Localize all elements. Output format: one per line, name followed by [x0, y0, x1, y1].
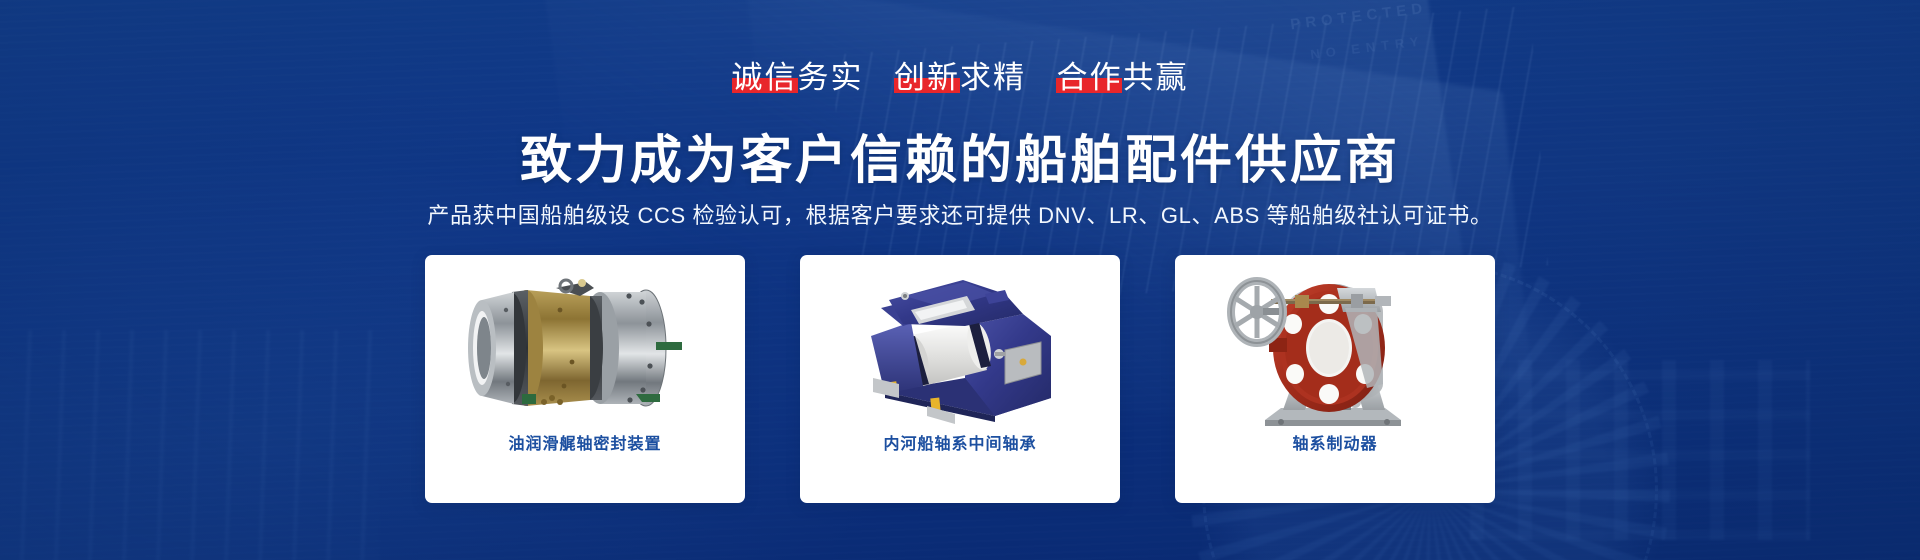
- product-image-bearing: [800, 255, 1120, 437]
- tagline-group-2: 创新求精: [894, 52, 1026, 97]
- tagline-text-2: 创新求精: [894, 60, 1026, 95]
- product-card-bearing[interactable]: 内河船轴系中间轴承: [800, 255, 1120, 503]
- tagline-group-1: 诚信务实: [732, 52, 864, 97]
- product-image-brake: [1175, 255, 1495, 437]
- shafting-brake-icon: [1225, 264, 1445, 429]
- product-card-list: 油润滑艉轴密封装置: [0, 255, 1920, 503]
- product-image-seal: [425, 255, 745, 437]
- product-caption-bearing: 内河船轴系中间轴承: [883, 437, 1036, 453]
- tagline-text-3: 合作共赢: [1056, 60, 1188, 95]
- tagline-text-1: 诚信务实: [732, 60, 864, 95]
- subtitle: 产品获中国船舶级设 CCS 检验认可，根据客户要求还可提供 DNV、LR、GL、…: [0, 198, 1920, 230]
- tagline: 诚信务实 创新求精 合作共赢: [0, 52, 1920, 97]
- hero-banner: PROTECTED NO ENTRY 诚信务实 创新求精 合作共赢 致力成为客户…: [0, 0, 1920, 560]
- headline: 致力成为客户信赖的船舶配件供应商: [0, 118, 1920, 193]
- product-card-brake[interactable]: 轴系制动器: [1175, 255, 1495, 503]
- inland-vessel-intermediate-shaft-bearing-icon: [845, 266, 1075, 426]
- product-caption-brake: 轴系制动器: [1292, 437, 1377, 453]
- tagline-group-3: 合作共赢: [1056, 52, 1188, 97]
- product-card-seal[interactable]: 油润滑艉轴密封装置: [425, 255, 745, 503]
- oil-lubricated-stern-tube-seal-icon: [460, 266, 710, 426]
- product-caption-seal: 油润滑艉轴密封装置: [508, 437, 661, 453]
